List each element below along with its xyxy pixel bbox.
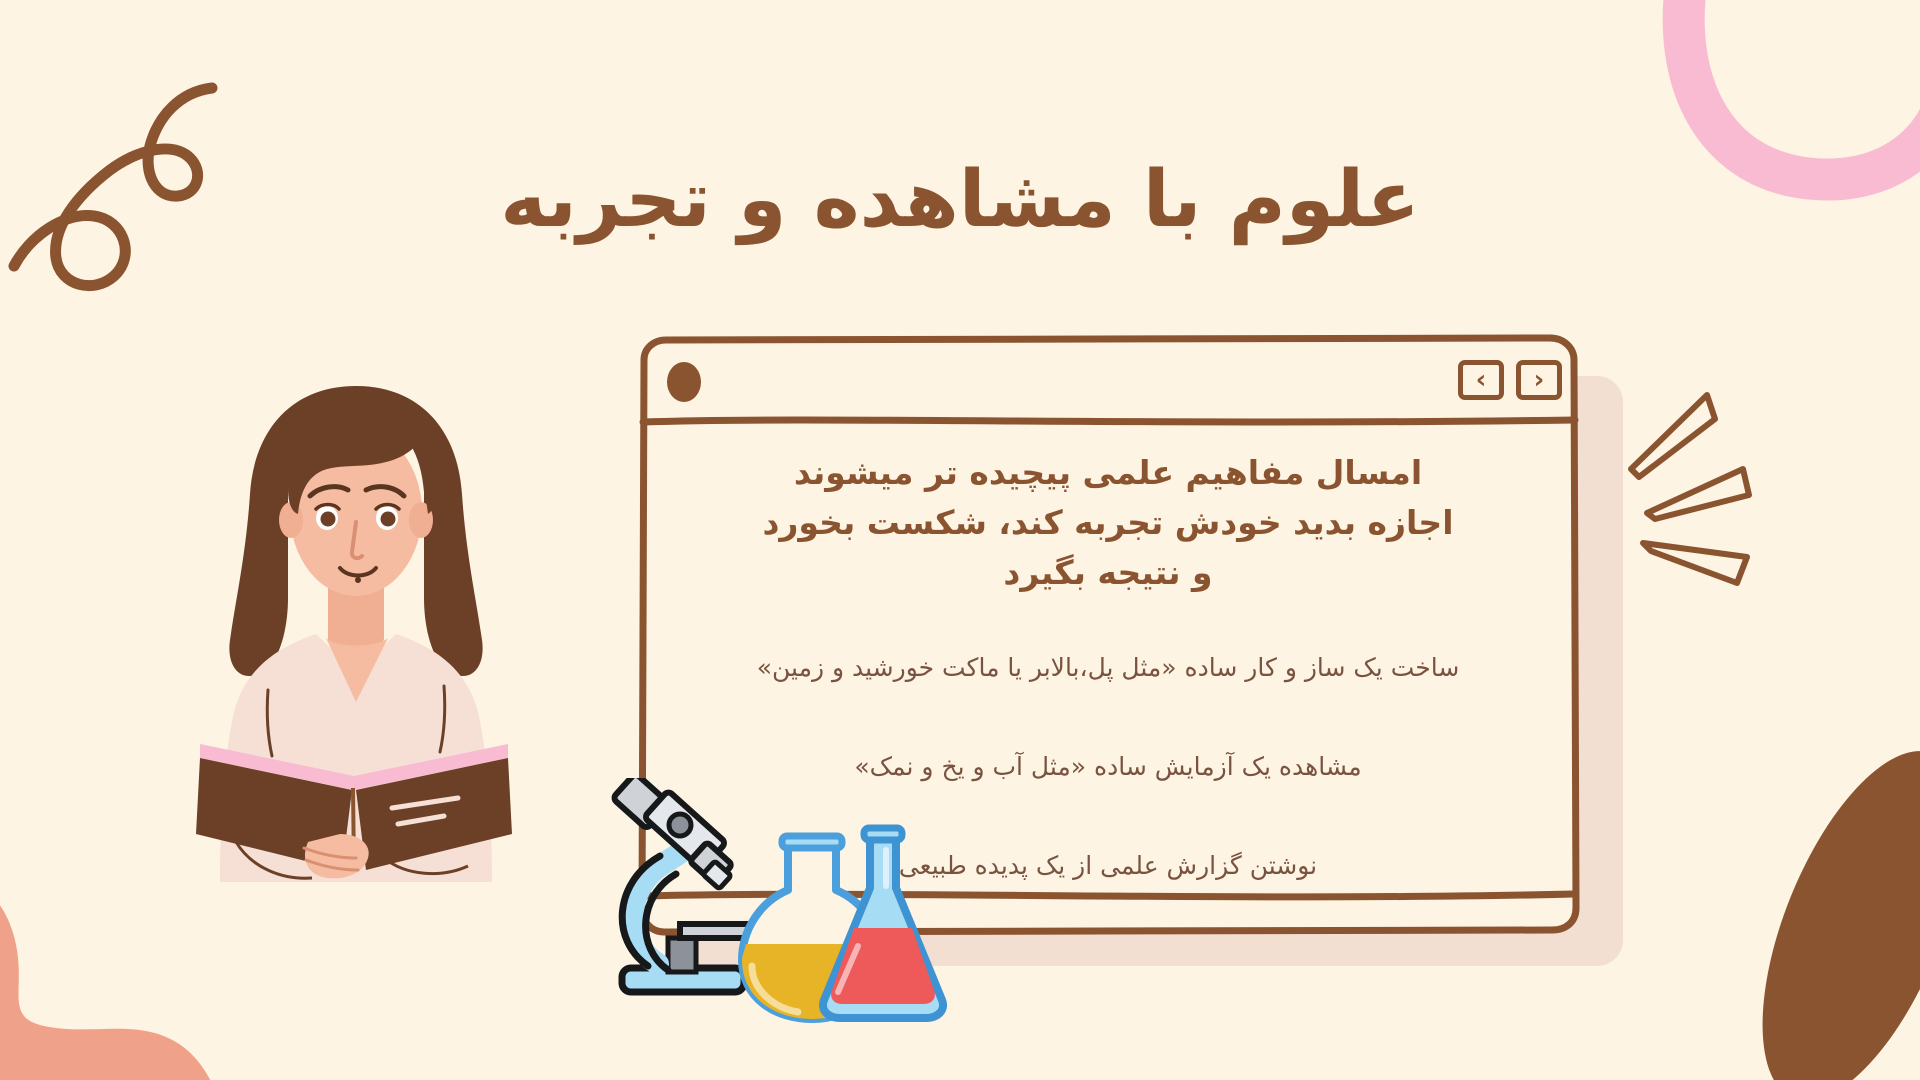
lead-paragraph: امسال مفاهیم علمی پیچیده تر میشوند اجازه…	[676, 448, 1540, 598]
page-title: علوم با مشاهده و تجربه	[0, 156, 1920, 246]
chevron-right-icon[interactable]: ›	[1458, 360, 1504, 400]
lead-line-2: اجازه بدید خودش تجربه کند، شکست بخورد	[676, 498, 1540, 548]
lead-line-3: و نتیجه بگیرد	[676, 548, 1540, 598]
list-item: ساخت یک ساز و کار ساده «مثل پل،بالابر یا…	[676, 650, 1540, 685]
window-dot-icon	[662, 360, 706, 404]
slide-root: علوم با مشاهده و تجربه	[0, 0, 1920, 1080]
lab-equipment-illustration	[602, 778, 977, 1023]
brown-ellipse-shape	[1735, 730, 1920, 1080]
chevron-left-icon[interactable]: ‹	[1516, 360, 1562, 400]
motion-lines-icon	[1625, 385, 1825, 600]
reading-girl-illustration	[196, 372, 516, 882]
lead-line-1: امسال مفاهیم علمی پیچیده تر میشوند	[676, 448, 1540, 498]
